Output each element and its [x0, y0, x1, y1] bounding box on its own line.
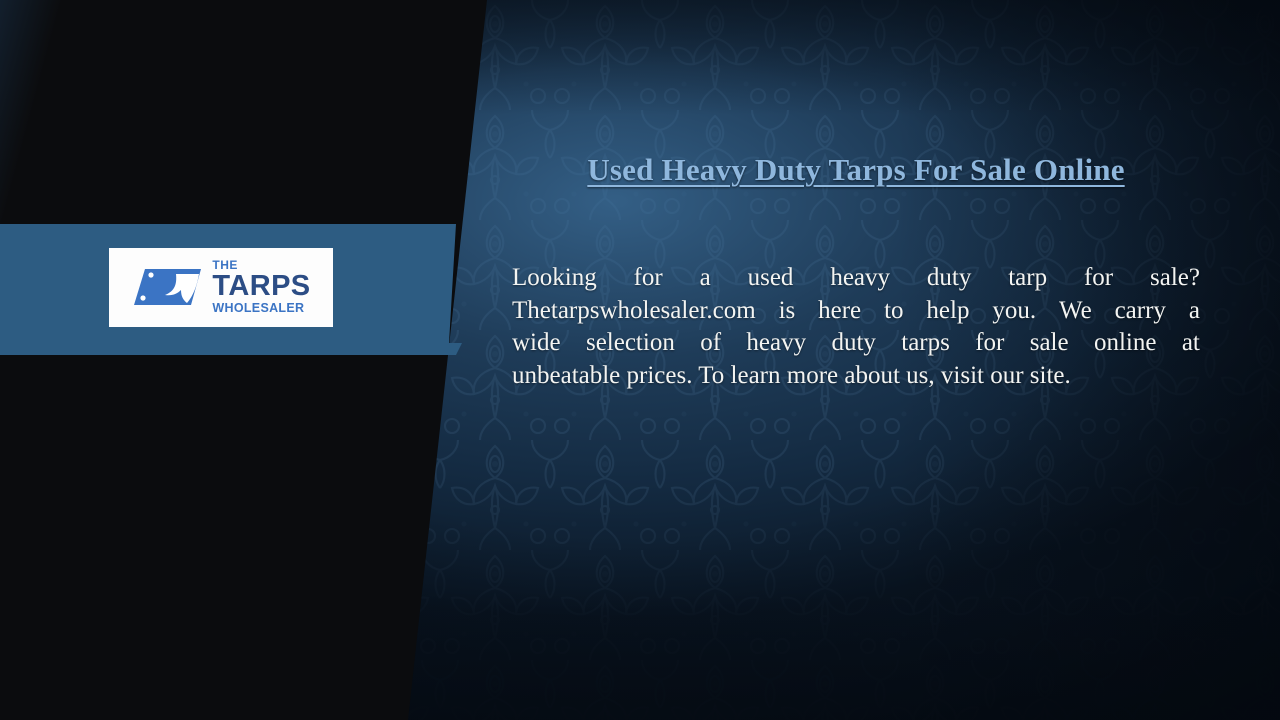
body-line: unbeatable prices. To learn more about u…: [512, 360, 1200, 393]
logo-wordmark: THE TARPS WHOLESALER: [212, 259, 310, 315]
slide-body-text: Lookingforausedheavydutytarpforsale?Thet…: [512, 262, 1200, 392]
logo-word-tarps: TARPS: [212, 272, 310, 301]
body-line: Thetarpswholesaler.comisheretohelpyou.We…: [512, 295, 1200, 328]
page-title: Used Heavy Duty Tarps For Sale Online: [512, 152, 1200, 188]
logo-word-wholesaler: WHOLESALER: [212, 302, 304, 315]
tarp-icon: [131, 266, 205, 308]
slide-content: Used Heavy Duty Tarps For Sale Online Lo…: [512, 0, 1200, 720]
body-line: Lookingforausedheavydutytarpforsale?: [512, 262, 1200, 295]
logo-card: THE TARPS WHOLESALER: [109, 248, 333, 327]
presentation-slide: THE TARPS WHOLESALER Used Heavy Duty Tar…: [0, 0, 1280, 720]
body-line: wideselectionofheavydutytarpsforsaleonli…: [512, 327, 1200, 360]
logo-lockup: THE TARPS WHOLESALER: [131, 259, 310, 315]
